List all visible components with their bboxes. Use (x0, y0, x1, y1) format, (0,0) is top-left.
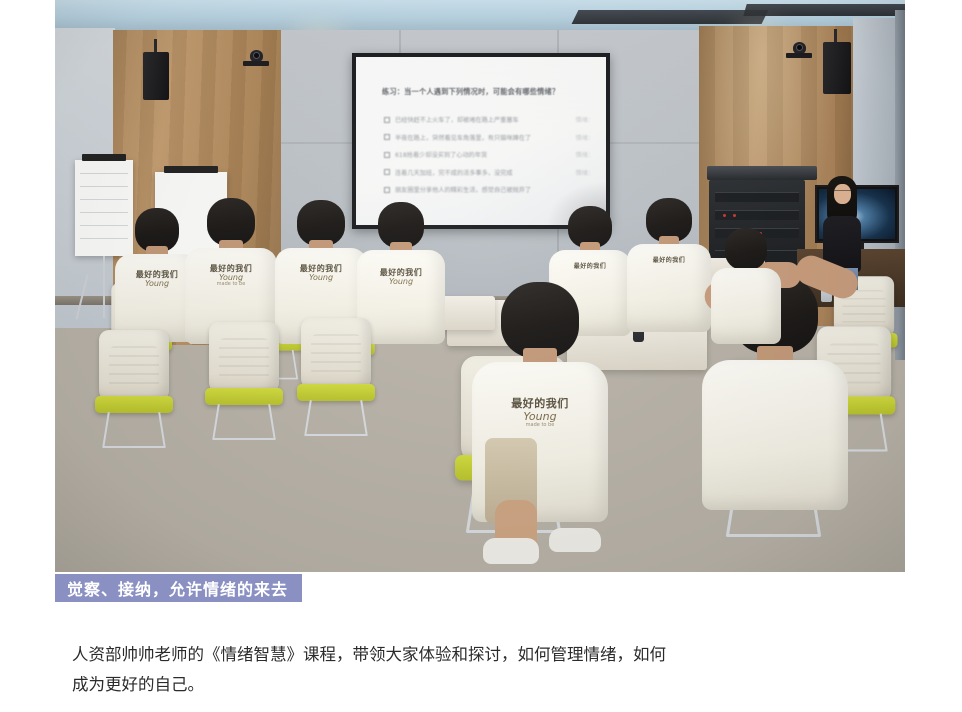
slide-bullet-tail: 情绪： (575, 115, 594, 124)
chair (297, 318, 375, 436)
slide-bullet-text: 连着几天加班，完不成的活多事多，没完成 (395, 168, 513, 177)
checkbox-icon (384, 169, 390, 175)
slide-bullet-item: 连着几天加班，完不成的活多事多，没完成 情绪： (384, 168, 594, 177)
ceiling-speaker-left-icon (143, 52, 169, 100)
glasses-icon (834, 190, 851, 195)
checkbox-icon (384, 152, 390, 158)
shoe (483, 538, 539, 564)
ceiling-beam-secondary (743, 4, 905, 16)
shoe (549, 528, 601, 552)
body-line-1: 人资部帅帅老师的《情绪智慧》课程，带领大家体验和探讨，如何管理情绪，如何 (72, 640, 772, 670)
slide-bullet-item: 618抢着少却没买到了心动的年货 情绪： (384, 150, 594, 159)
chair (95, 330, 173, 448)
head (501, 282, 579, 358)
slide-bullet-text: 半夜在路上，突然看见车角落里，有只猫咪蹲在了 (395, 133, 531, 142)
tshirt (702, 360, 848, 510)
tshirt-print: 最好的我们 Young (286, 264, 356, 282)
wall-camera-right-icon (790, 42, 808, 58)
student-mid-right (710, 228, 782, 348)
slide-title: 练习：当一个人遇到下列情况时，可能会有哪些情绪？ (382, 87, 559, 97)
head (207, 198, 255, 246)
flipchart-legs (103, 256, 105, 318)
slide-bullet-text: 朋友圈里分享他人的精彩生活，感觉自己被抛弃了 (395, 185, 531, 194)
tshirt-print: 最好的我们 Young made to be (196, 264, 266, 288)
tshirt: 最好的我们 (627, 244, 711, 332)
tshirt (711, 268, 781, 344)
slide-bullet-tail: 情绪： (575, 168, 594, 177)
checkbox-icon (384, 134, 390, 140)
head (725, 228, 767, 270)
slide-bullet-text: 618抢着少却没买到了心动的年货 (395, 150, 487, 159)
body-line-2: 成为更好的自己。 (72, 670, 772, 700)
article-page: 练习：当一个人遇到下列情况时，可能会有哪些情绪？ 已经快赶不上火车了，却被堵在路… (0, 0, 962, 712)
chair (205, 322, 283, 440)
slide-bullet-item: 已经快赶不上火车了，却被堵在路上严重塞车 情绪： (384, 115, 594, 124)
slide-bullet-tail: 情绪： (575, 133, 594, 142)
tshirt-print: 最好的我们 Young (368, 268, 434, 286)
ceiling-speaker-right-icon (823, 42, 851, 94)
flipchart-clip (164, 166, 219, 173)
ceiling-beam (572, 10, 769, 24)
tshirt-print: 最好的我们 Young (127, 270, 187, 288)
flipchart-clip (82, 154, 126, 161)
wall-camera-left-icon (247, 50, 265, 66)
article-body: 人资部帅帅老师的《情绪智慧》课程，带领大家体验和探讨，如何管理情绪，如何 成为更… (72, 640, 772, 700)
tshirt-print: 最好的我们 (562, 264, 618, 271)
training-session-photo: 练习：当一个人遇到下列情况时，可能会有哪些情绪？ 已经快赶不上火车了，却被堵在路… (55, 0, 905, 572)
tshirt-print: 最好的我们 Young made to be (490, 398, 590, 429)
checkbox-icon (384, 117, 390, 123)
slide-bullet-item: 半夜在路上，突然看见车角落里，有只猫咪蹲在了 情绪： (384, 133, 594, 142)
checkbox-icon (384, 187, 390, 193)
tshirt-print: 最好的我们 (640, 258, 698, 265)
caption-text: 觉察、接纳，允许情绪的来去 (67, 576, 288, 600)
slide-surface: 练习：当一个人遇到下列情况时，可能会有哪些情绪？ 已经快赶不上火车了，却被堵在路… (356, 57, 606, 225)
slide-bullet-text: 已经快赶不上火车了，却被堵在路上严重塞车 (395, 115, 519, 124)
av-mixer (707, 166, 817, 180)
slide-bullet-tail: 情绪： (575, 150, 594, 159)
caption-banner: 觉察、接纳，允许情绪的来去 (55, 574, 302, 602)
